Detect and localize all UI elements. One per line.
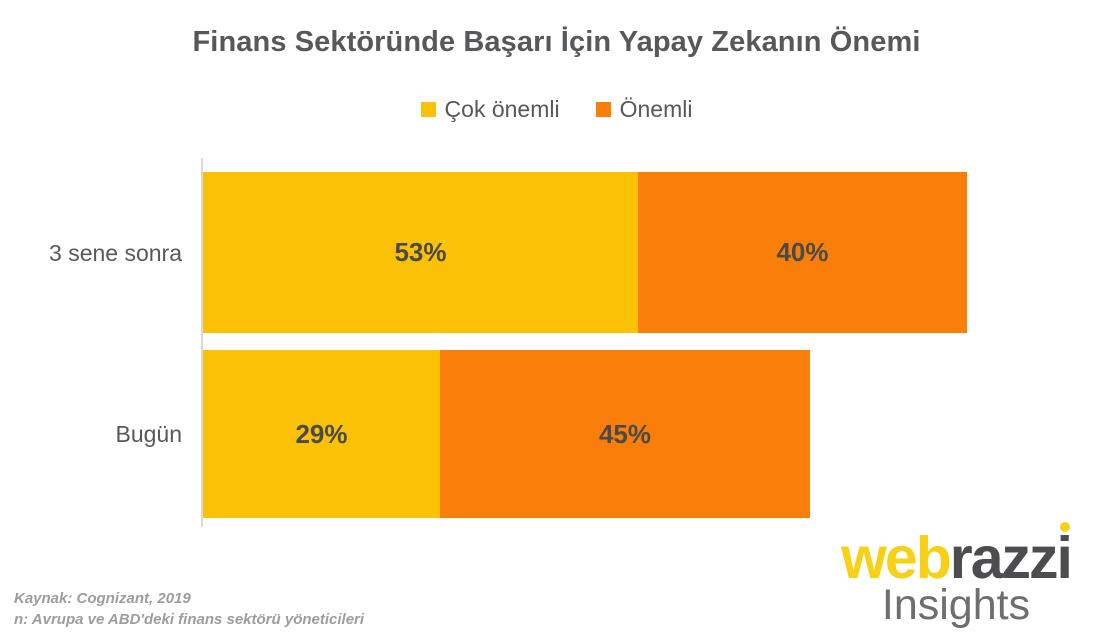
bar-segment-cok-onemli: 53% — [203, 172, 638, 333]
bar-value-label: 53% — [394, 237, 446, 268]
bar-segment-onemli: 45% — [440, 350, 810, 518]
bar-value-label: 45% — [599, 419, 651, 450]
bar-value-label: 29% — [295, 419, 347, 450]
table-row: 29% 45% — [203, 350, 810, 518]
category-label-3-sene-sonra: 3 sene sonra — [0, 240, 182, 267]
bar-segment-cok-onemli: 29% — [203, 350, 440, 518]
logo-razzi-label: razzi — [950, 525, 1071, 591]
bar-segment-onemli: 40% — [638, 172, 967, 333]
logo-wordmark: webrazzi — [827, 529, 1085, 588]
table-row: 53% 40% — [203, 172, 967, 333]
logo-razzi-text: razzi — [950, 525, 1071, 591]
source-line-2: n: Avrupa ve ABD'deki finans sektörü yön… — [14, 609, 364, 631]
logo-dot-icon — [1060, 522, 1070, 532]
webrazzi-insights-logo: webrazzi Insights — [827, 529, 1085, 627]
source-note: Kaynak: Cognizant, 2019 n: Avrupa ve ABD… — [14, 588, 364, 632]
category-label-bugun: Bugün — [0, 421, 182, 448]
source-line-1: Kaynak: Cognizant, 2019 — [14, 588, 364, 610]
bar-value-label: 40% — [776, 237, 828, 268]
